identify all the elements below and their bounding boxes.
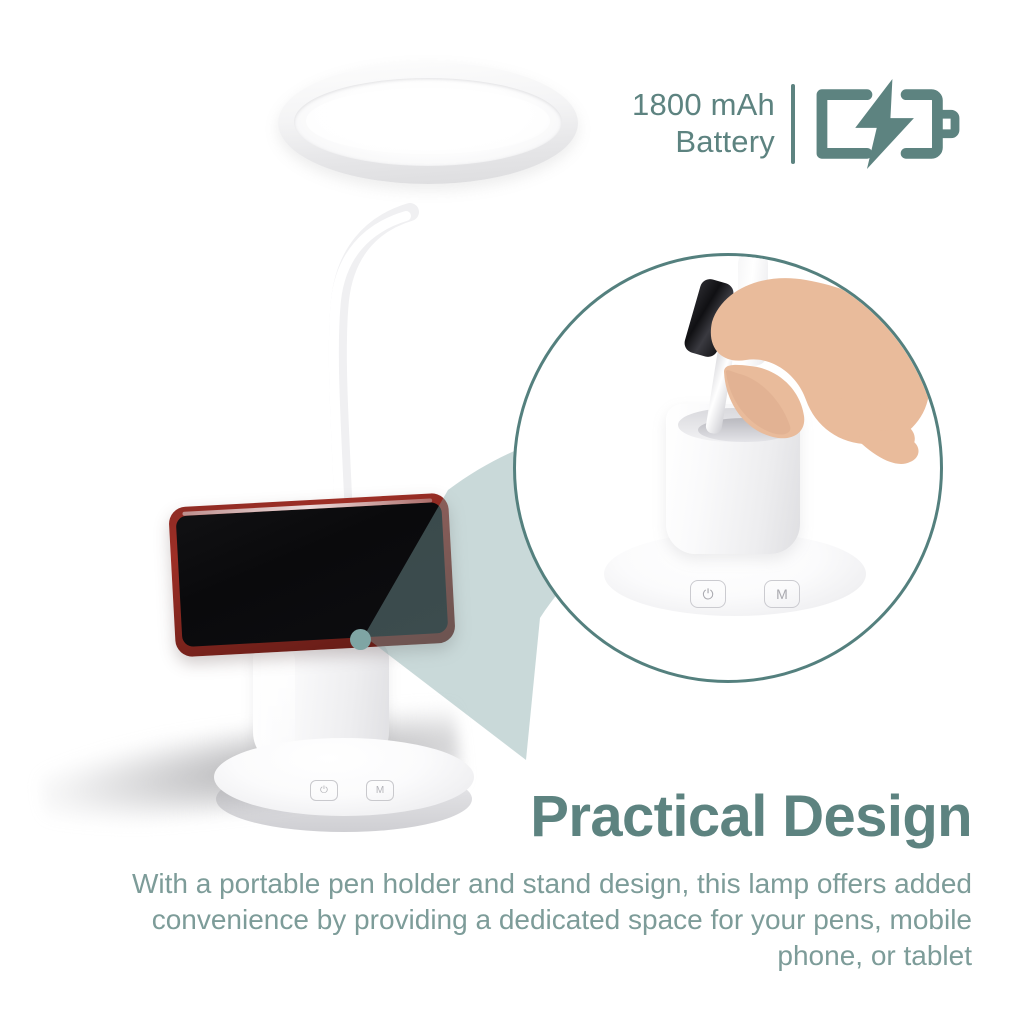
pen-holder-closeup: ⏻ M [513,253,943,683]
callout-origin-dot [350,629,371,650]
product-marketing-banner: 1800 mAh Battery [0,0,1024,1024]
power-icon: ⏻ [320,785,328,796]
battery-label-line: Battery [600,124,775,161]
battery-capacity-line: 1800 mAh [600,87,775,124]
battery-badge: 1800 mAh Battery [600,74,960,174]
hand-holding-pen [666,268,936,498]
battery-charging-icon [811,79,960,169]
mode-button[interactable]: M [366,780,394,801]
page-title: Practical Design [530,788,972,846]
vertical-divider [791,84,795,164]
mode-icon: M [776,586,788,602]
lamp-head-light-panel [278,62,578,184]
lamp-base-controls: ⏻ M [310,780,394,801]
mode-icon: M [376,785,384,796]
mode-button[interactable]: M [764,580,800,608]
power-button[interactable]: ⏻ [690,580,726,608]
power-button[interactable]: ⏻ [310,780,338,801]
battery-badge-text: 1800 mAh Battery [600,87,775,160]
closeup-scene: ⏻ M [516,256,940,680]
power-icon: ⏻ [702,586,713,603]
closeup-base-controls: ⏻ M [690,580,800,608]
description-text: With a portable pen holder and stand des… [110,866,972,973]
lamp-head-glow [306,88,550,154]
